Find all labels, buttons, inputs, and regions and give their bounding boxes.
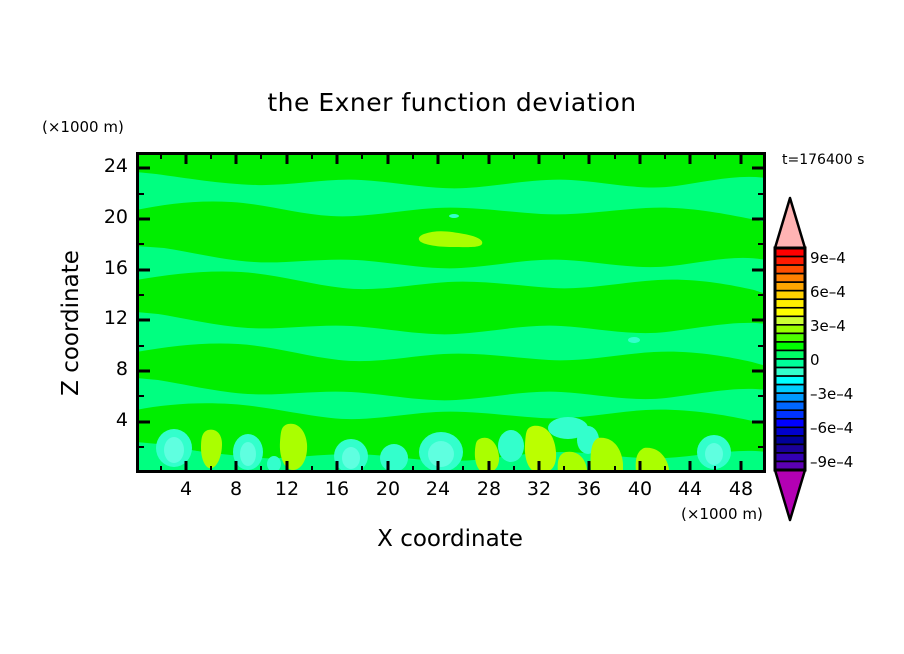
colorbar-label-9e-4: 9e–4: [810, 249, 846, 267]
colorbar-segment: [775, 385, 805, 394]
colorbar-segment: [775, 325, 805, 334]
x-tick-48: 48: [718, 478, 764, 500]
contour-plot: [136, 152, 766, 473]
x-tick-40: 40: [617, 478, 663, 500]
colorbar-segment: [775, 299, 805, 308]
time-annotation: t=176400 s: [782, 152, 864, 168]
x-axis-title: X coordinate: [250, 526, 650, 552]
x-tick-12: 12: [264, 478, 310, 500]
x-tick-4: 4: [163, 478, 209, 500]
colorbar-segment: [775, 333, 805, 342]
colorbar-label-0: 0: [810, 351, 820, 369]
x-tick-32: 32: [516, 478, 562, 500]
y-axis-units-label: (×1000 m): [42, 118, 124, 136]
colorbar-segment: [775, 350, 805, 359]
colorbar-segment: [775, 427, 805, 436]
colorbar-segment: [775, 308, 805, 317]
y-axis-title: Z coordinate: [58, 213, 84, 433]
colorbar-segment: [775, 453, 805, 462]
x-tick-8: 8: [213, 478, 259, 500]
colorbar-label-3e-4: 3e–4: [810, 317, 846, 335]
x-tick-36: 36: [566, 478, 612, 500]
colorbar-label-m6e-4: –6e–4: [810, 419, 853, 437]
colorbar-segment: [775, 368, 805, 377]
x-axis-units-label: (×1000 m): [681, 505, 763, 523]
x-tick-24: 24: [415, 478, 461, 500]
colorbar-segment: [775, 376, 805, 385]
colorbar-segment: [775, 410, 805, 419]
colorbar-segment: [775, 342, 805, 351]
colorbar-label-m9e-4: –9e–4: [810, 453, 853, 471]
x-tick-28: 28: [466, 478, 512, 500]
colorbar-segment: [775, 257, 805, 266]
colorbar-label-6e-4: 6e–4: [810, 283, 846, 301]
colorbar-segment: [775, 316, 805, 325]
colorbar-segment: [775, 419, 805, 428]
colorbar-label-m3e-4: –3e–4: [810, 385, 853, 403]
colorbar-segment: [775, 291, 805, 300]
colorbar-segment: [775, 282, 805, 291]
page-title: the Exner function deviation: [0, 88, 904, 117]
colorbar-segment: [775, 393, 805, 402]
colorbar-segment: [775, 402, 805, 411]
x-tick-44: 44: [667, 478, 713, 500]
colorbar-segment: [775, 436, 805, 445]
colorbar-segment: [775, 359, 805, 368]
figure-canvas: the Exner function deviation (×1000 m) (…: [0, 0, 904, 654]
colorbar-segment: [775, 265, 805, 274]
x-tick-20: 20: [365, 478, 411, 500]
colorbar-segment: [775, 274, 805, 283]
x-tick-16: 16: [314, 478, 360, 500]
colorbar-segment: [775, 444, 805, 453]
